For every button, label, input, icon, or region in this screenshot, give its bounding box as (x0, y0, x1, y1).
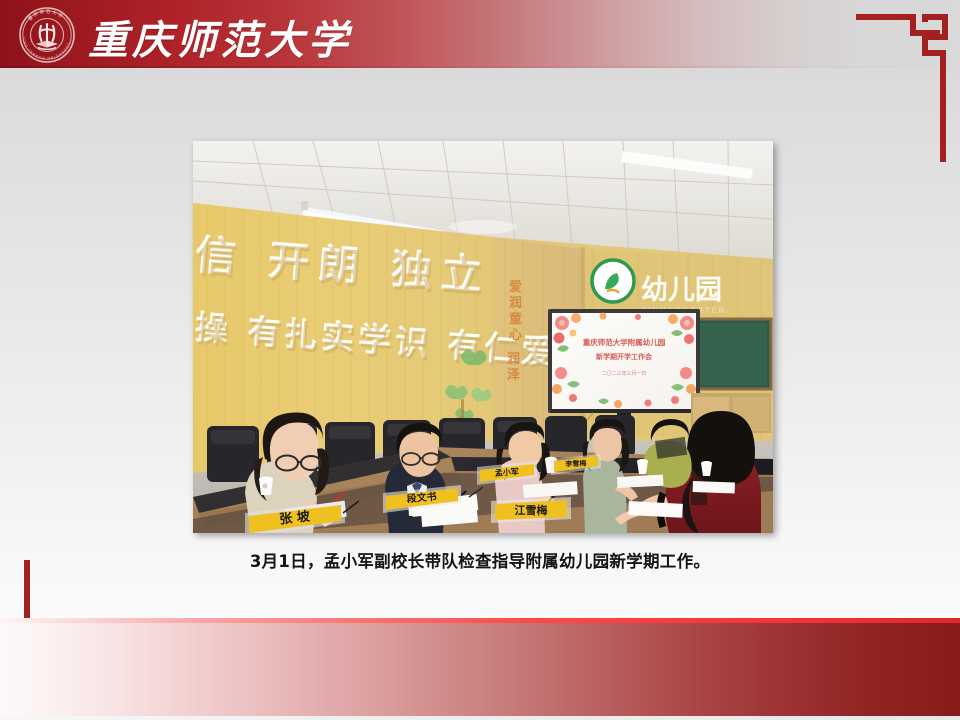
footer-band (0, 623, 960, 716)
slide-canvas: 重庆师范大学 CHONGQING NORMAL UNIVERSITY 重庆师范大… (0, 0, 960, 720)
photo-caption: 3月1日，孟小军副校长带队检查指导附属幼儿园新学期工作。 (0, 548, 960, 572)
top-right-corner-ornament-icon (856, 8, 956, 173)
photo-frame: 信 开朗 独立 操 有扎实学识 有仁爱之心 信 开朗 独立 操 有扎实学识 有仁… (193, 141, 773, 533)
meeting-room-photo: 信 开朗 独立 操 有扎实学识 有仁爱之心 信 开朗 独立 操 有扎实学识 有仁… (193, 141, 773, 533)
university-logo-icon: 重庆师范大学 CHONGQING NORMAL UNIVERSITY (17, 6, 77, 64)
header-underline (0, 66, 960, 68)
footer-bottom-edge (0, 716, 960, 720)
svg-text:重庆师范大学: 重庆师范大学 (27, 8, 66, 22)
university-name-title: 重庆师范大学 (88, 8, 352, 66)
